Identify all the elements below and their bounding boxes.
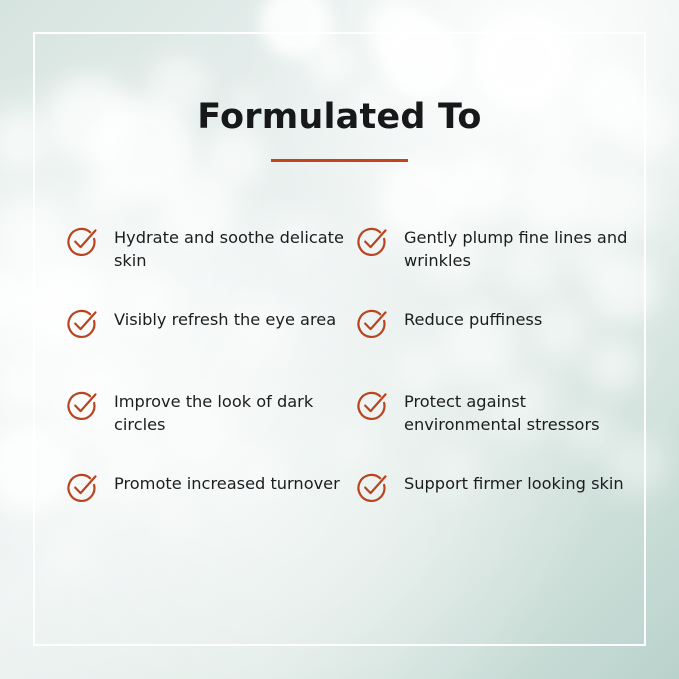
benefit-label: Visibly refresh the eye area [114, 304, 336, 331]
benefit-label: Promote increased turnover [114, 468, 340, 495]
content-area: Formulated To Hydrate and soothe delicat… [0, 0, 679, 679]
benefit-item: Improve the look of dark circles [64, 386, 354, 468]
circle-check-icon [64, 305, 100, 341]
title-underline-rule [271, 159, 408, 162]
benefit-item: Hydrate and soothe delicate skin [64, 222, 354, 304]
benefit-list: Hydrate and soothe delicate skinGently p… [64, 222, 632, 550]
title-block: Formulated To [0, 100, 679, 162]
circle-check-icon [64, 223, 100, 259]
circle-check-icon [354, 469, 390, 505]
circle-check-icon [354, 305, 390, 341]
benefit-item: Protect against environmental stressors [354, 386, 632, 468]
circle-check-icon [354, 387, 390, 423]
circle-check-icon [354, 223, 390, 259]
benefit-item: Support firmer looking skin [354, 468, 632, 550]
page-title: Formulated To [0, 100, 679, 135]
promotional-graphic: Formulated To Hydrate and soothe delicat… [0, 0, 679, 679]
benefit-item: Reduce puffiness [354, 304, 632, 386]
benefit-item: Visibly refresh the eye area [64, 304, 354, 386]
benefit-item: Gently plump fine lines and wrinkles [354, 222, 632, 304]
benefit-item: Promote increased turnover [64, 468, 354, 550]
circle-check-icon [64, 387, 100, 423]
benefit-label: Gently plump fine lines and wrinkles [404, 222, 632, 272]
benefit-label: Improve the look of dark circles [114, 386, 349, 436]
benefit-label: Support firmer looking skin [404, 468, 624, 495]
benefit-label: Protect against environmental stressors [404, 386, 632, 436]
benefit-label: Reduce puffiness [404, 304, 542, 331]
benefit-label: Hydrate and soothe delicate skin [114, 222, 349, 272]
circle-check-icon [64, 469, 100, 505]
